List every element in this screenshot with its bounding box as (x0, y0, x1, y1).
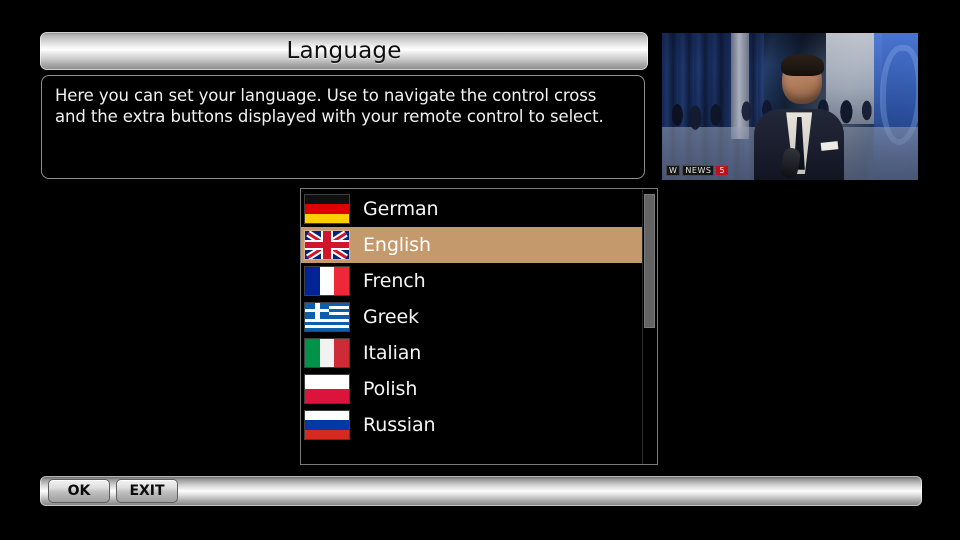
channel-bug-left: W (666, 165, 680, 176)
page-title: Language (286, 38, 401, 64)
language-label: French (363, 270, 426, 292)
language-list-item[interactable]: Italian (301, 335, 644, 371)
language-label: Polish (363, 378, 417, 400)
language-label: German (363, 198, 438, 220)
language-label: Italian (363, 342, 421, 364)
language-label: Russian (363, 414, 435, 436)
video-pocket-square (820, 141, 838, 151)
channel-logo-bug: W NEWS 5 (666, 165, 728, 176)
description-panel: Here you can set your language. Use to n… (41, 75, 645, 179)
pl-flag-icon (305, 375, 349, 403)
ru-flag-icon (305, 411, 349, 439)
description-text: Here you can set your language. Use to n… (55, 85, 631, 127)
gb-flag-icon (305, 231, 349, 259)
de-flag-icon (305, 195, 349, 223)
exit-button[interactable]: EXIT (116, 479, 178, 503)
it-flag-icon (305, 339, 349, 367)
video-frame: W NEWS 5 (662, 33, 918, 180)
language-label: Greek (363, 306, 419, 328)
channel-bug-right: 5 (716, 166, 728, 175)
language-list-item[interactable]: German (301, 191, 644, 227)
language-list-item[interactable]: English (301, 227, 644, 263)
video-preview[interactable]: W NEWS 5 (662, 33, 918, 180)
language-list: GermanEnglishFrenchGreekItalianPolishRus… (301, 191, 644, 443)
channel-bug-mid: NEWS (682, 165, 714, 176)
scrollbar-track[interactable] (642, 190, 656, 465)
scrollbar-thumb[interactable] (644, 194, 655, 328)
tv-settings-screen: Language Here you can set your language.… (0, 0, 960, 540)
video-reporter-hair (781, 54, 824, 76)
ok-button[interactable]: OK (48, 479, 110, 503)
language-list-panel[interactable]: GermanEnglishFrenchGreekItalianPolishRus… (300, 188, 658, 465)
title-bar: Language (40, 32, 648, 70)
fr-flag-icon (305, 267, 349, 295)
language-list-item[interactable]: Russian (301, 407, 644, 443)
language-label: English (363, 234, 431, 256)
bottom-button-bar: OK EXIT (40, 476, 922, 506)
language-list-item[interactable]: French (301, 263, 644, 299)
gr-flag-icon (305, 303, 349, 331)
language-list-item[interactable]: Polish (301, 371, 644, 407)
language-list-item[interactable]: Greek (301, 299, 644, 335)
